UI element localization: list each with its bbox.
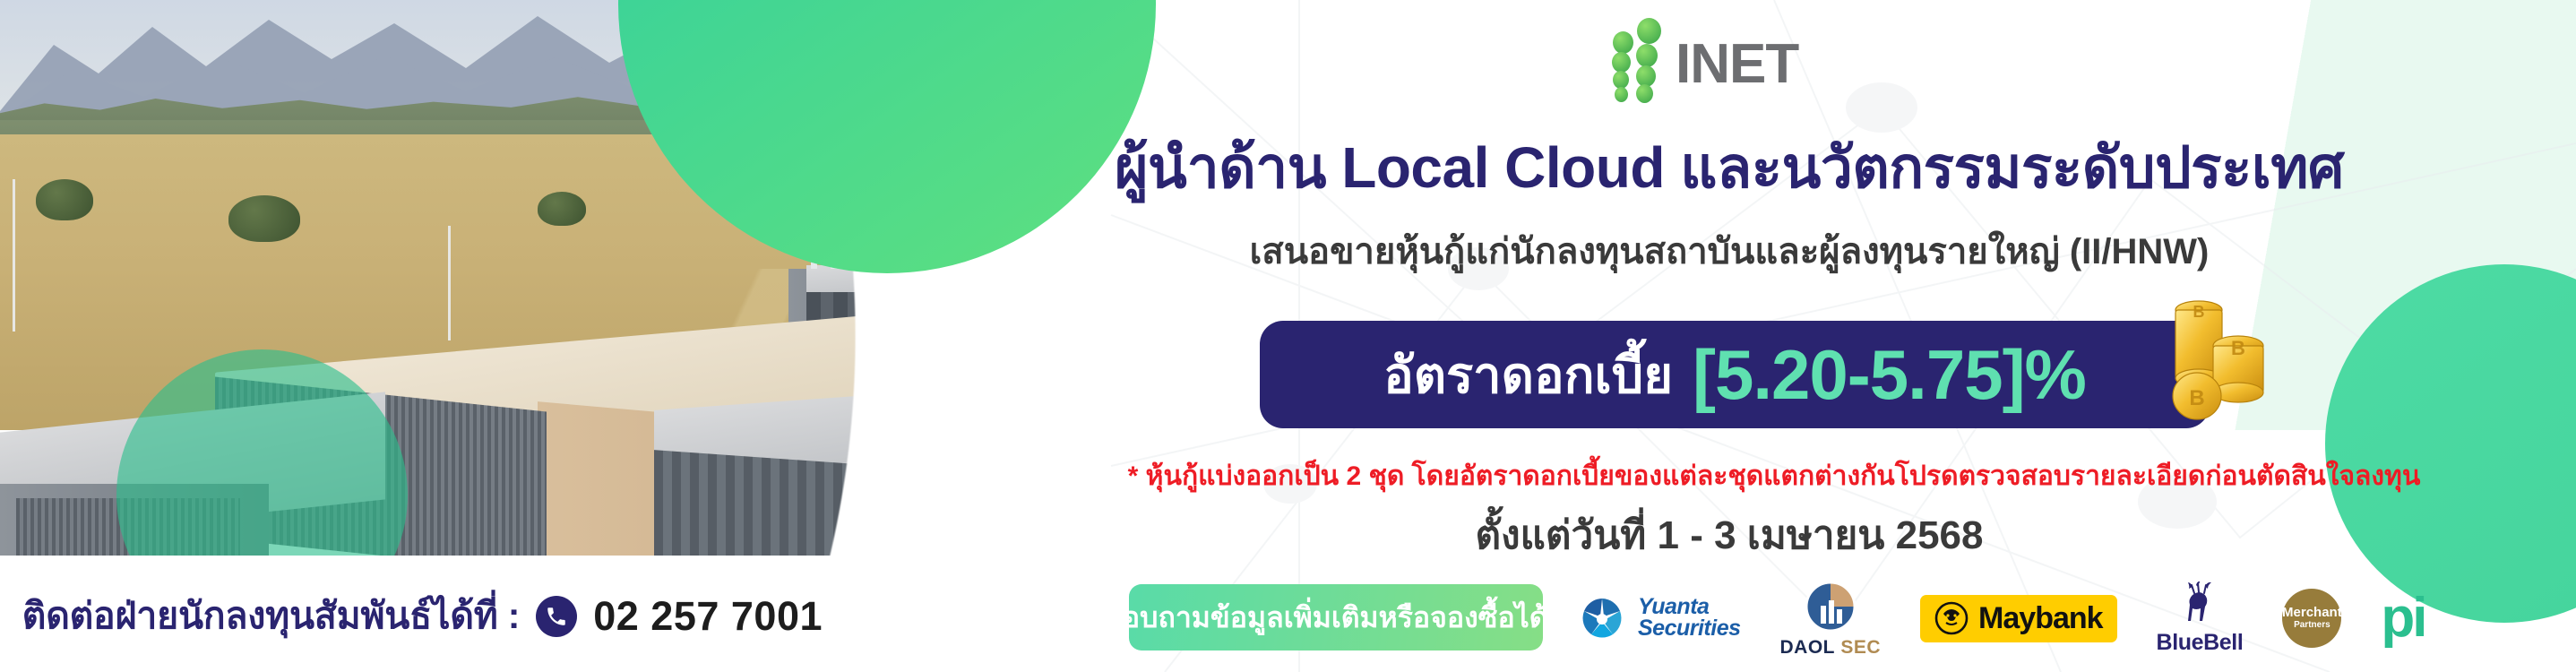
photo-tree <box>538 192 586 226</box>
gold-bitcoin-coins-icon: B B B <box>2159 294 2276 428</box>
inet-logo-wordmark: INET <box>1676 39 1798 91</box>
photo-tree <box>36 179 93 220</box>
partner-yuanta-line2: Securities <box>1638 616 1741 641</box>
phone-icon <box>536 596 577 637</box>
photo-tree <box>228 195 300 242</box>
inet-sprout-dots-logo-icon <box>1604 16 1670 91</box>
investor-relations-contact-card: ติดต่อฝ่ายนักลงทุนสัมพันธ์ได้ที่ : 02 25… <box>0 556 860 672</box>
disclaimer-text: * หุ้นกู้แบ่งออกเป็น 2 ชุด โดยอัตราดอกเบ… <box>1057 455 2491 497</box>
inet-logo: INET <box>1604 16 1798 91</box>
partner-logo-daol[interactable]: DAOL SEC <box>1780 579 1882 659</box>
partner-daol-line1: DAOL <box>1780 637 1836 658</box>
partner-maybank-label: Maybank <box>1978 601 2103 636</box>
banner-content: INET ผู้นำด้าน Local Cloud และนวัตกรรมระ… <box>1057 0 2576 672</box>
partner-logo-maybank[interactable]: Maybank <box>1920 595 2117 642</box>
svg-text:B: B <box>2193 303 2205 321</box>
partner-logo-bluebell[interactable]: BlueBell <box>2157 582 2244 656</box>
partner-logo-pi[interactable]: pi <box>2381 596 2425 641</box>
contact-phone-number[interactable]: 02 257 7001 <box>593 593 823 640</box>
svg-text:B: B <box>2231 337 2245 359</box>
partner-logos: Yuanta Securities DAOL SEC <box>1577 573 2425 663</box>
cta-row: สอบถามข้อมูลเพิ่มเติมหรือจองซื้อได้ที่ <box>1129 584 1543 650</box>
bluebell-deer-icon <box>2178 582 2221 628</box>
maybank-tiger-icon <box>1934 601 1969 635</box>
page-subtitle: เสนอขายหุ้นกู้แก่นักลงทุนสถาบันและผู้ลงท… <box>1057 222 2401 280</box>
interest-rate-label: อัตราดอกเบี้ย <box>1383 335 1673 415</box>
photo-utility-pole <box>13 179 15 332</box>
interest-rate-value: [5.20-5.75]% <box>1693 334 2086 416</box>
interest-rate-box: อัตราดอกเบี้ย [5.20-5.75]% <box>1260 321 2210 428</box>
partner-bluebell-label: BlueBell <box>2157 630 2244 656</box>
partner-merchant-line1: Merchant <box>2282 606 2342 619</box>
svg-text:B: B <box>2189 386 2204 410</box>
partner-pi-label: pi <box>2381 596 2425 641</box>
contact-label: ติดต่อฝ่ายนักลงทุนสัมพันธ์ได้ที่ : <box>22 587 520 645</box>
inquire-subscribe-button[interactable]: สอบถามข้อมูลเพิ่มเติมหรือจองซื้อได้ที่ <box>1129 584 1543 650</box>
daol-pie-icon <box>1803 579 1858 634</box>
promotional-banner: ติดต่อฝ่ายนักลงทุนสัมพันธ์ได้ที่ : 02 25… <box>0 0 2576 672</box>
photo-utility-pole <box>448 226 451 340</box>
partner-logo-yuanta[interactable]: Yuanta Securities <box>1577 593 1741 643</box>
offer-period-text: ตั้งแต่วันที่ 1 - 3 เมษายน 2568 <box>1057 504 2401 566</box>
partner-daol-line2: SEC <box>1840 637 1881 658</box>
page-title: ผู้นำด้าน Local Cloud และนวัตกรรมระดับปร… <box>1057 122 2401 213</box>
partner-logo-merchant-partners[interactable]: Merchant Partners <box>2282 589 2341 648</box>
yuanta-star-icon <box>1577 593 1627 643</box>
partner-merchant-line2: Partners <box>2294 619 2330 632</box>
